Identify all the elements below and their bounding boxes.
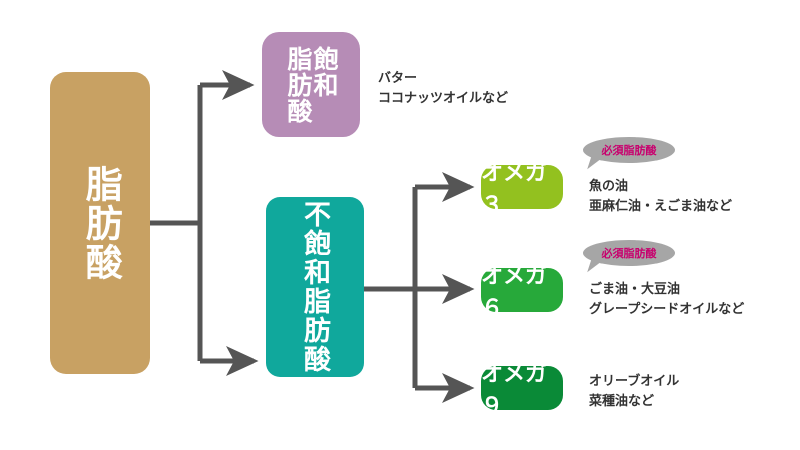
description-saturated-fatty-acid: バター ココナッツオイルなど [378,68,508,108]
badge-essential-fatty-acid-omega-6-label: 必須脂肪酸 [602,245,657,261]
description-omega-3: 魚の油 亜麻仁油・えごま油など [589,176,732,216]
badge-essential-fatty-acid-omega-3-label: 必須脂肪酸 [602,142,657,158]
fatty-acid-classification-diagram: 脂肪酸 飽和 脂肪酸 バター ココナッツオイルなど 不飽和脂肪酸 オメガ３ 必須… [0,0,800,450]
node-omega-3: オメガ３ [481,165,563,209]
node-fatty-acid: 脂肪酸 [50,72,150,374]
node-unsaturated-fatty-acid: 不飽和脂肪酸 [266,197,364,377]
node-omega-6: オメガ６ [481,268,563,312]
node-omega-3-label: オメガ３ [481,155,563,219]
node-unsaturated-fatty-acid-label: 不飽和脂肪酸 [301,200,329,374]
node-omega-9-label: オメガ９ [481,356,563,420]
node-omega-9: オメガ９ [481,366,563,410]
edge-unsaturated-split [364,187,415,388]
node-omega-6-label: オメガ６ [481,258,563,322]
edge-root-split [150,85,200,361]
description-omega-6: ごま油・大豆油 グレープシードオイルなど [589,279,744,319]
node-saturated-fatty-acid-label: 飽和 脂肪酸 [285,32,337,137]
description-omega-9: オリーブオイル 菜種油など [589,371,679,411]
node-fatty-acid-label: 脂肪酸 [81,165,119,282]
node-saturated-fatty-acid: 飽和 脂肪酸 [262,32,360,137]
